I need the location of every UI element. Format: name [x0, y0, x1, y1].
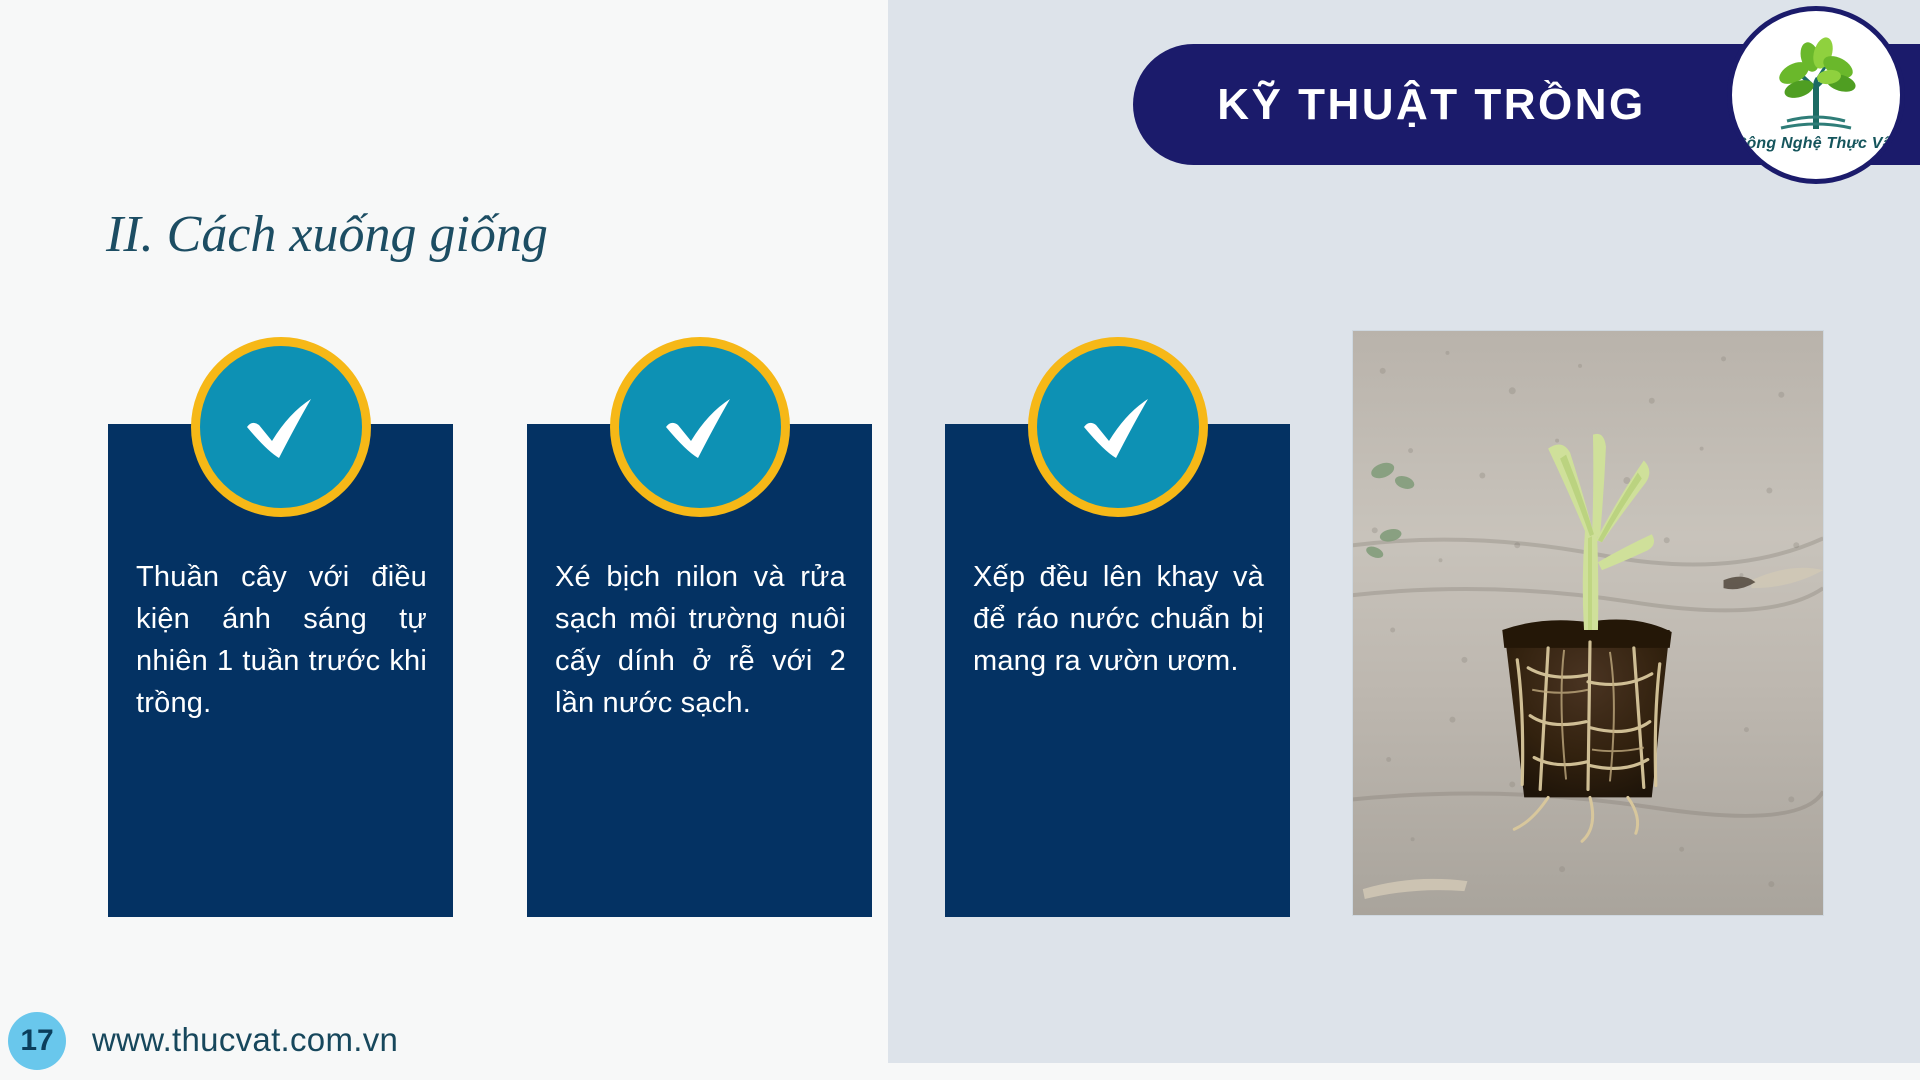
check-mark-icon: [1028, 337, 1208, 517]
page-number-badge: 17: [8, 1012, 66, 1070]
footer-website-url: www.thucvat.com.vn: [92, 1021, 398, 1059]
page-title: KỸ THUẬT TRỒNG: [1217, 80, 1646, 130]
tree-logo-icon: [1761, 37, 1871, 133]
step-card-1-text: Thuần cây với điều kiện ánh sáng tự nhiê…: [136, 556, 427, 724]
brand-logo: Công Nghệ Thực Vật: [1727, 6, 1905, 184]
step-card-2-text: Xé bịch nilon và rửa sạch môi trường nuô…: [555, 556, 846, 724]
seedling-photo: [1352, 330, 1824, 916]
check-mark-icon: [610, 337, 790, 517]
step-card-3-text: Xếp đều lên khay và để ráo nước chuẩn bị…: [973, 556, 1264, 682]
logo-text: Công Nghệ Thực Vật: [1735, 135, 1898, 153]
slide-root: KỸ THUẬT TRỒNG Côn: [0, 0, 1920, 1080]
check-mark-icon: [191, 337, 371, 517]
section-heading: II. Cách xuống giống: [106, 205, 548, 264]
